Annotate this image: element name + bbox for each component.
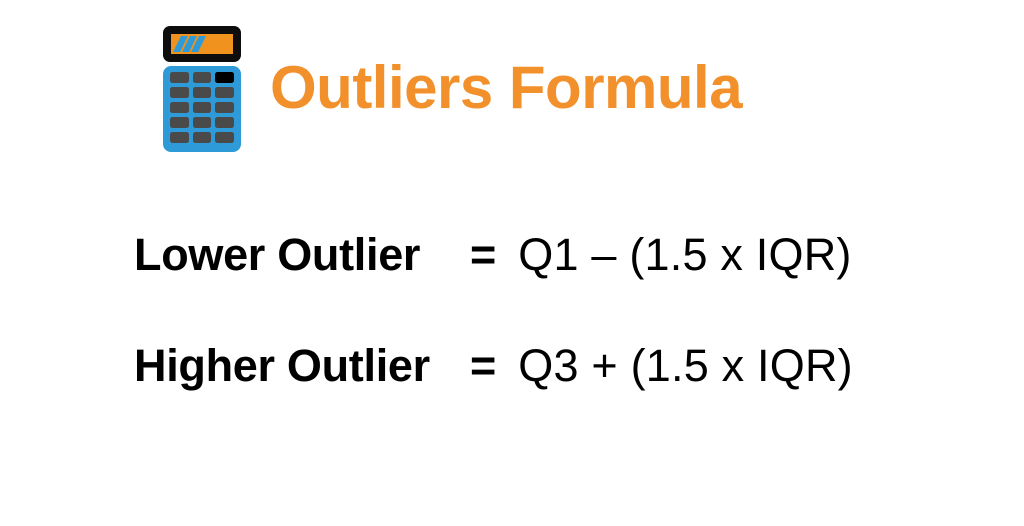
calculator-key [193,87,212,98]
calculator-key [170,117,189,128]
calculator-key [170,132,189,143]
formula-row-higher-outlier: Higher Outlier = Q3 + (1.5 x IQR) [134,343,934,388]
calculator-icon [160,22,244,154]
calculator-key [215,117,234,128]
calculator-key [193,102,212,113]
calculator-key-grid [170,72,234,143]
calculator-key [193,132,212,143]
calculator-key [215,132,234,143]
calculator-keypad [163,66,241,152]
calculator-key [170,87,189,98]
calculator-key [193,72,212,83]
calculator-key [170,72,189,83]
formula-row-lower-outlier: Lower Outlier = Q1 – (1.5 x IQR) [134,232,934,277]
calculator-display [171,34,233,54]
calculator-key [215,102,234,113]
calculator-key-accent [215,72,234,83]
calculator-key [170,102,189,113]
page-header: Outliers Formula [160,20,742,156]
calculator-key [215,87,234,98]
calculator-key [193,117,212,128]
formula-label: Lower Outlier [134,232,470,277]
formula-label: Higher Outlier [134,343,470,388]
formula-expression: Q3 + (1.5 x IQR) [518,343,853,388]
calculator-screen-frame [163,26,241,62]
formula-equals-sign: = [470,232,496,277]
formula-expression: Q1 – (1.5 x IQR) [518,232,851,277]
page-title: Outliers Formula [270,58,742,118]
formula-equals-sign: = [470,343,496,388]
formula-list: Lower Outlier = Q1 – (1.5 x IQR) Higher … [134,232,934,388]
